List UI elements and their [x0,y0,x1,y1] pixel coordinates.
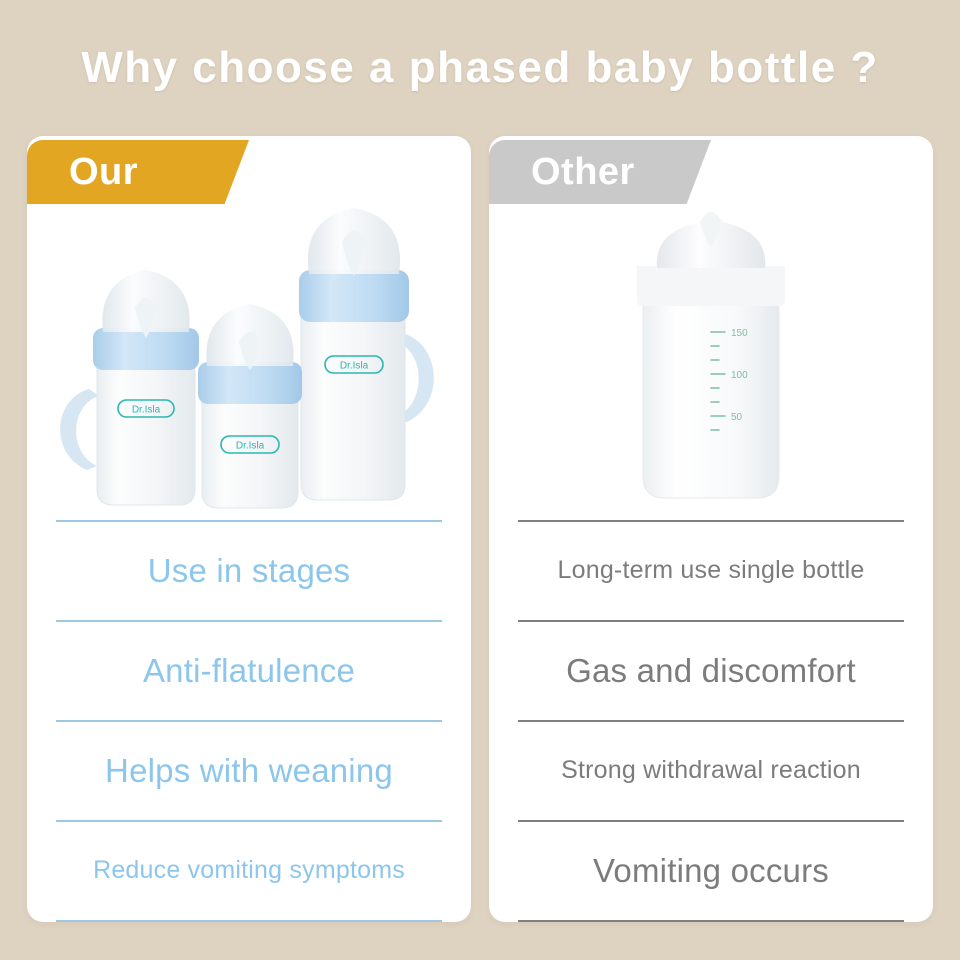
bottle-right: Dr.Isla [299,208,434,500]
bottle-single: 150 100 50 [637,212,785,498]
brand-label: Dr.Isla [132,405,161,416]
page-title: Why choose a phased baby bottle ? [0,40,960,96]
feature-row[interactable]: Reduce vomiting symptoms [56,822,442,920]
scale-label: 50 [731,412,743,423]
feature-label: Vomiting occurs [593,853,829,889]
feature-row[interactable]: Long-term use single bottle [518,522,904,620]
bottle-left: Dr.Isla [60,270,199,505]
feature-row[interactable]: Vomiting occurs [518,822,904,920]
feature-label: Helps with weaning [105,753,393,789]
comparison-area: Our [27,136,933,922]
feature-row[interactable]: Strong withdrawal reaction [518,722,904,820]
scale-label: 100 [731,370,748,381]
comparison-card-our: Our [27,136,471,922]
comparison-card-other: Other [489,136,933,922]
feature-row[interactable]: Gas and discomfort [518,622,904,720]
feature-label: Strong withdrawal reaction [561,757,861,785]
brand-label: Dr.Isla [236,441,265,452]
feature-row[interactable]: Use in stages [56,522,442,620]
feature-list-our: Use in stages Anti-flatulence Helps with… [27,520,471,922]
ribbon-our: Our [27,140,249,204]
scale-label: 150 [731,328,748,339]
bottle-center: Dr.Isla [198,304,302,508]
ribbon-other: Other [489,140,711,204]
brand-label: Dr.Isla [340,361,369,372]
feature-divider [56,920,442,922]
feature-label: Gas and discomfort [566,653,856,689]
feature-list-other: Long-term use single bottle Gas and disc… [489,520,933,922]
product-image-our: Dr.Isla Dr.Isla [27,204,471,520]
feature-label: Anti-flatulence [143,653,355,689]
feature-divider [518,920,904,922]
feature-label: Use in stages [148,553,351,589]
ribbon-label-other: Other [531,140,635,204]
product-image-other: 150 100 50 [489,204,933,520]
feature-row[interactable]: Helps with weaning [56,722,442,820]
feature-row[interactable]: Anti-flatulence [56,622,442,720]
ribbon-label-our: Our [69,140,138,204]
feature-label: Long-term use single bottle [558,557,865,585]
feature-label: Reduce vomiting symptoms [93,857,405,885]
